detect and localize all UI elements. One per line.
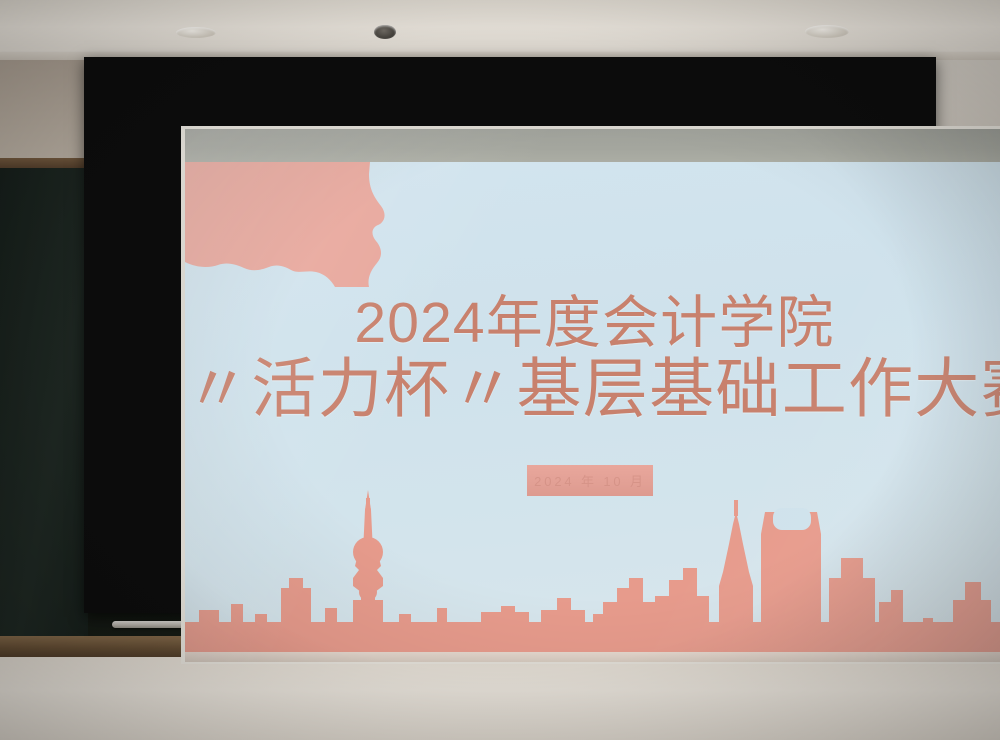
classroom-scene: 2024年度会计学院 〃活力杯〃基层基础工作大赛 2024 年 10 月: [0, 0, 1000, 740]
wall-upper-left: [0, 60, 88, 172]
presentation-slide: 2024年度会计学院 〃活力杯〃基层基础工作大赛 2024 年 10 月: [185, 129, 1000, 662]
recessed-light-icon: [176, 27, 216, 38]
slide-ground-strip: [185, 652, 1000, 662]
projector-screen-frame: 2024年度会计学院 〃活力杯〃基层基础工作大赛 2024 年 10 月: [84, 57, 936, 613]
recessed-light-icon: [374, 25, 396, 39]
blackboard-left: [0, 168, 88, 638]
shanghai-skyline-decoration: [185, 482, 1000, 662]
recessed-light-icon: [805, 25, 849, 38]
lower-wall: [0, 657, 1000, 740]
projector-letterbox-band: [185, 129, 1000, 162]
ceiling: [0, 0, 1000, 60]
corner-blob-decoration: [185, 162, 445, 287]
